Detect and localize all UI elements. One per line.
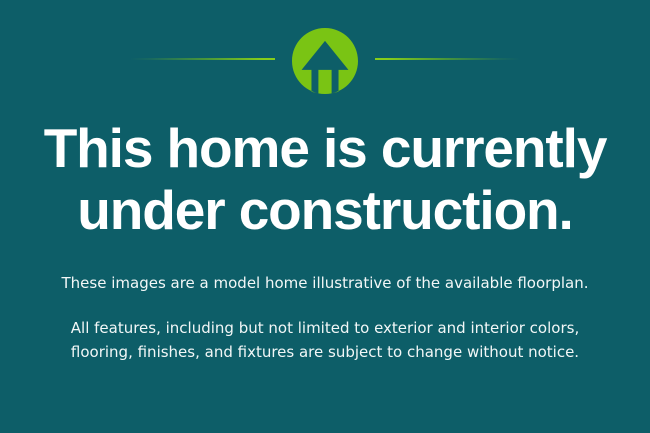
disclaimer-text: These images are a model home illustrati… <box>0 272 650 364</box>
divider-rule-left <box>130 58 275 60</box>
disclaimer-paragraph-1: These images are a model home illustrati… <box>16 272 634 295</box>
construction-placeholder-card: This home is currently under constructio… <box>0 0 650 433</box>
disclaimer-p2-line-1: All features, including but not limited … <box>16 317 634 340</box>
divider-rule-right <box>375 58 520 60</box>
headline-line-1: This home is currently <box>14 118 636 180</box>
home-arrow-logo-icon <box>292 28 358 94</box>
logo-divider-band <box>0 0 650 118</box>
disclaimer-p2-line-2: flooring, finishes, and fixtures are sub… <box>16 341 634 364</box>
page-title: This home is currently under constructio… <box>0 118 650 241</box>
disclaimer-paragraph-2: All features, including but not limited … <box>16 317 634 364</box>
headline-line-2: under construction. <box>14 180 636 242</box>
disclaimer-p1-line-1: These images are a model home illustrati… <box>16 272 634 295</box>
